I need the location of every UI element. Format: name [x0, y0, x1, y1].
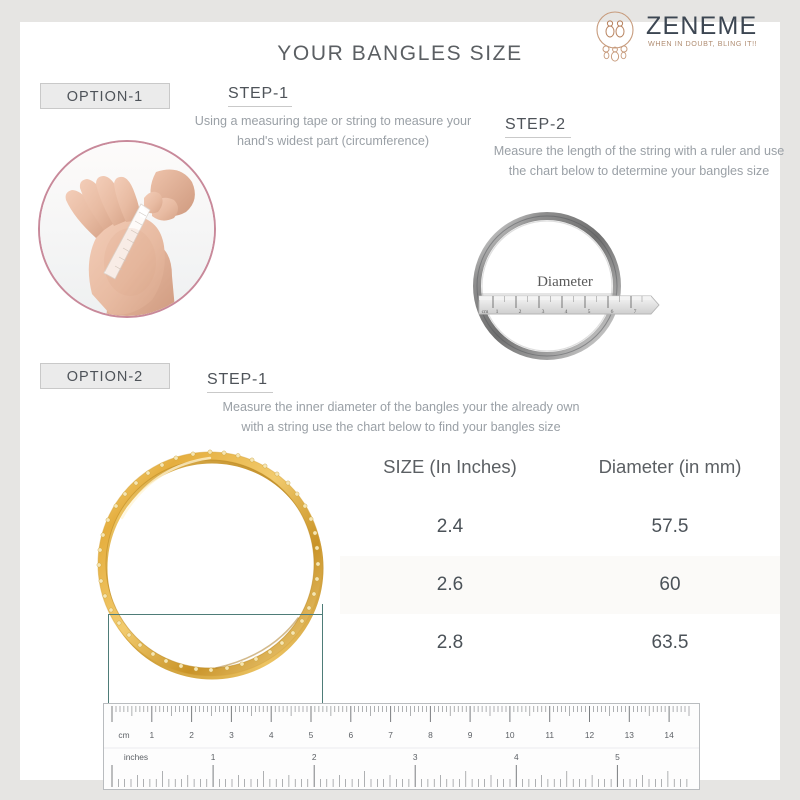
option-1-badge: OPTION-1	[40, 83, 170, 109]
hand-measuring-with-tape-photo	[38, 140, 216, 318]
table-row: 2.6 60	[340, 556, 780, 614]
svg-text:4: 4	[565, 309, 568, 315]
svg-text:7: 7	[634, 309, 637, 315]
measure-guide-line-right	[322, 604, 323, 714]
measure-guide-line-horizontal	[108, 614, 323, 615]
option-2-step-1-text: Measure the inner diameter of the bangle…	[215, 398, 587, 437]
cell-size: 2.6	[340, 574, 560, 596]
svg-text:11: 11	[545, 730, 554, 740]
svg-text:1: 1	[496, 309, 499, 315]
svg-text:5: 5	[615, 752, 620, 762]
cm-inch-ruler: cm1234567891011121314 inches12345	[103, 703, 700, 790]
cell-diameter: 57.5	[560, 516, 780, 538]
svg-text:6: 6	[348, 730, 353, 740]
svg-text:cm: cm	[482, 309, 489, 315]
column-header-size: SIZE (In Inches)	[340, 456, 560, 498]
diameter-label: Diameter	[455, 274, 675, 291]
size-guide-page: YOUR BANGLES SIZE ZENEME WHEN IN DOUBT, …	[0, 0, 800, 800]
cell-diameter: 63.5	[560, 632, 780, 654]
svg-text:2: 2	[519, 309, 522, 315]
svg-text:4: 4	[269, 730, 274, 740]
option-1-step-2-text: Measure the length of the string with a …	[490, 142, 788, 181]
svg-text:cm: cm	[118, 730, 129, 740]
option-2-step-1-label: STEP-1	[207, 371, 273, 393]
table-row: 2.4 57.5	[340, 498, 780, 556]
svg-text:5: 5	[309, 730, 314, 740]
brand-tagline: WHEN IN DOUBT, BLING IT!!	[648, 39, 757, 48]
option-2-badge: OPTION-2	[40, 363, 170, 389]
cell-size: 2.4	[340, 516, 560, 538]
svg-text:2: 2	[189, 730, 194, 740]
brand-logo: ZENEME WHEN IN DOUBT, BLING IT!!	[588, 6, 788, 64]
option-1-step-1-text: Using a measuring tape or string to meas…	[180, 112, 486, 151]
size-chart-table: SIZE (In Inches) Diameter (in mm) 2.4 57…	[340, 456, 780, 686]
option-1-step-2-label: STEP-2	[505, 116, 571, 138]
gold-bangle-photo	[92, 448, 340, 698]
svg-text:9: 9	[468, 730, 473, 740]
measure-guide-line-left	[108, 614, 109, 714]
svg-text:2: 2	[312, 752, 317, 762]
svg-text:3: 3	[413, 752, 418, 762]
svg-text:8: 8	[428, 730, 433, 740]
cell-size: 2.8	[340, 632, 560, 654]
svg-text:1: 1	[149, 730, 154, 740]
svg-text:14: 14	[664, 730, 674, 740]
svg-text:13: 13	[625, 730, 635, 740]
brand-name: ZENEME	[646, 12, 757, 41]
svg-text:5: 5	[588, 309, 591, 315]
bangle-earrings-logo-icon	[588, 8, 642, 62]
cell-diameter: 60	[560, 574, 780, 596]
svg-text:3: 3	[542, 309, 545, 315]
column-header-diameter: Diameter (in mm)	[560, 456, 780, 498]
svg-text:6: 6	[611, 309, 614, 315]
svg-text:1: 1	[211, 752, 216, 762]
svg-text:3: 3	[229, 730, 234, 740]
svg-text:4: 4	[514, 752, 519, 762]
svg-text:7: 7	[388, 730, 393, 740]
table-header-row: SIZE (In Inches) Diameter (in mm)	[340, 456, 780, 498]
svg-text:12: 12	[585, 730, 595, 740]
svg-text:10: 10	[505, 730, 515, 740]
option-1-step-1-label: STEP-1	[228, 85, 292, 107]
svg-text:inches: inches	[124, 752, 148, 762]
bangle-diameter-diagram: cm 1 2 3 4 5 6 7 Diameter	[455, 212, 675, 360]
table-row: 2.8 63.5	[340, 614, 780, 672]
